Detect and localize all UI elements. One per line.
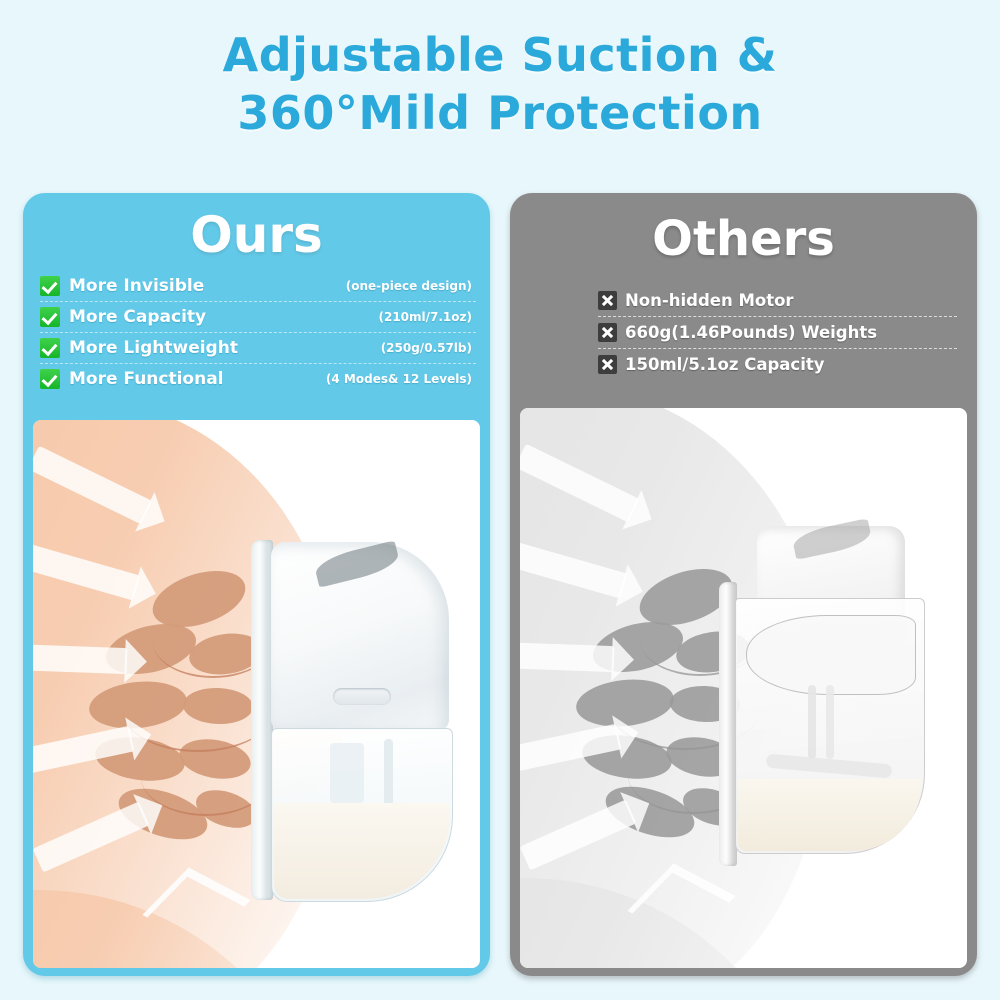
feature-name: More Lightweight [69, 338, 238, 358]
list-item: More Invisible (one-piece design) [40, 271, 476, 302]
device-milk-level [738, 779, 922, 851]
ours-feature-list: More Invisible (one-piece design) More C… [23, 271, 490, 394]
device-valve [330, 743, 364, 803]
others-illustration [520, 408, 967, 968]
feature-name: More Capacity [69, 307, 206, 327]
list-item: 660g(1.46Pounds) Weights [598, 317, 957, 349]
feature-detail: (4 Modes& 12 Levels) [326, 372, 476, 386]
comparison-container: Ours More Invisible (one-piece design) M… [23, 193, 977, 976]
x-icon [598, 291, 617, 310]
title-line-2: 360°Mild Protection [0, 84, 1000, 142]
feature-detail: (250g/0.57lb) [381, 341, 476, 355]
x-icon [598, 355, 617, 374]
check-icon [40, 276, 60, 296]
panel-others: Others Non-hidden Motor 660g(1.46Pounds)… [510, 193, 977, 976]
device-milk-cup [271, 728, 453, 902]
device-flange [251, 540, 273, 900]
feature-name: 150ml/5.1oz Capacity [625, 355, 825, 374]
list-item: More Capacity (210ml/7.1oz) [40, 302, 476, 333]
feature-name: 660g(1.46Pounds) Weights [625, 323, 877, 342]
panel-others-heading: Others [510, 211, 977, 267]
others-feature-list: Non-hidden Motor 660g(1.46Pounds) Weight… [510, 285, 977, 380]
feature-detail: (210ml/7.1oz) [378, 310, 476, 324]
list-item: 150ml/5.1oz Capacity [598, 349, 957, 380]
device-shadow [313, 540, 401, 587]
panel-ours: Ours More Invisible (one-piece design) M… [23, 193, 490, 976]
list-item: More Functional (4 Modes& 12 Levels) [40, 364, 476, 394]
others-product-photo [520, 408, 967, 968]
x-icon [598, 323, 617, 342]
suction-arrow [33, 644, 127, 674]
suction-arrow [520, 642, 614, 672]
panel-ours-heading: Ours [23, 207, 490, 263]
device-milk-cup [735, 598, 925, 854]
feature-name: More Invisible [69, 276, 204, 296]
check-icon [40, 338, 60, 358]
list-item: More Lightweight (250g/0.57lb) [40, 333, 476, 364]
check-icon [40, 369, 60, 389]
check-icon [40, 307, 60, 327]
page-title: Adjustable Suction & 360°Mild Protection [0, 26, 1000, 142]
device-milk-level [274, 803, 450, 899]
device-shadow [791, 518, 873, 560]
feature-name: Non-hidden Motor [625, 291, 794, 310]
device-tube [808, 685, 816, 759]
device-logo-plate [333, 688, 391, 705]
product-device-ours [251, 540, 451, 900]
device-tube [826, 685, 834, 759]
device-horn [746, 615, 916, 695]
list-item: Non-hidden Motor [598, 285, 957, 317]
ours-illustration [33, 420, 480, 968]
feature-detail: (one-piece design) [346, 279, 476, 293]
title-line-1: Adjustable Suction & [0, 26, 1000, 84]
feature-name: More Functional [69, 369, 224, 389]
product-device-others [715, 526, 945, 866]
ours-product-photo [33, 420, 480, 968]
